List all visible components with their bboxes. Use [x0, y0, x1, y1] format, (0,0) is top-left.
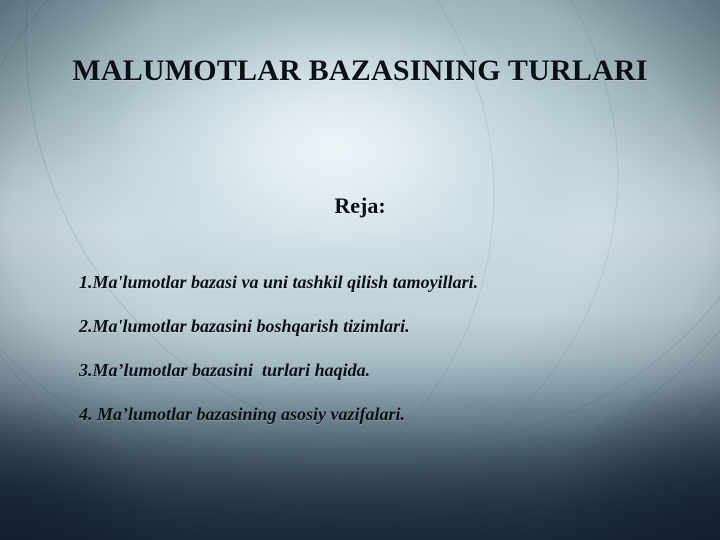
- outline-heading: Reja:: [0, 194, 720, 218]
- slide-content: MALUMOTLAR BAZASINING TURLARI Reja: 1.Ma…: [0, 0, 720, 540]
- presentation-slide: MALUMOTLAR BAZASINING TURLARI Reja: 1.Ma…: [0, 0, 720, 540]
- list-item: 2.Ma'lumotlar bazasini boshqarish tiziml…: [79, 317, 680, 335]
- outline-list: 1.Ma'lumotlar bazasi va uni tashkil qili…: [79, 273, 680, 423]
- list-item: 4. Ma’lumotlar bazasining asosiy vazifal…: [79, 405, 680, 423]
- slide-title: MALUMOTLAR BAZASINING TURLARI: [0, 54, 720, 87]
- list-item: 1.Ma'lumotlar bazasi va uni tashkil qili…: [79, 273, 680, 291]
- list-item: 3.Ma’lumotlar bazasini turlari haqida.: [79, 361, 680, 379]
